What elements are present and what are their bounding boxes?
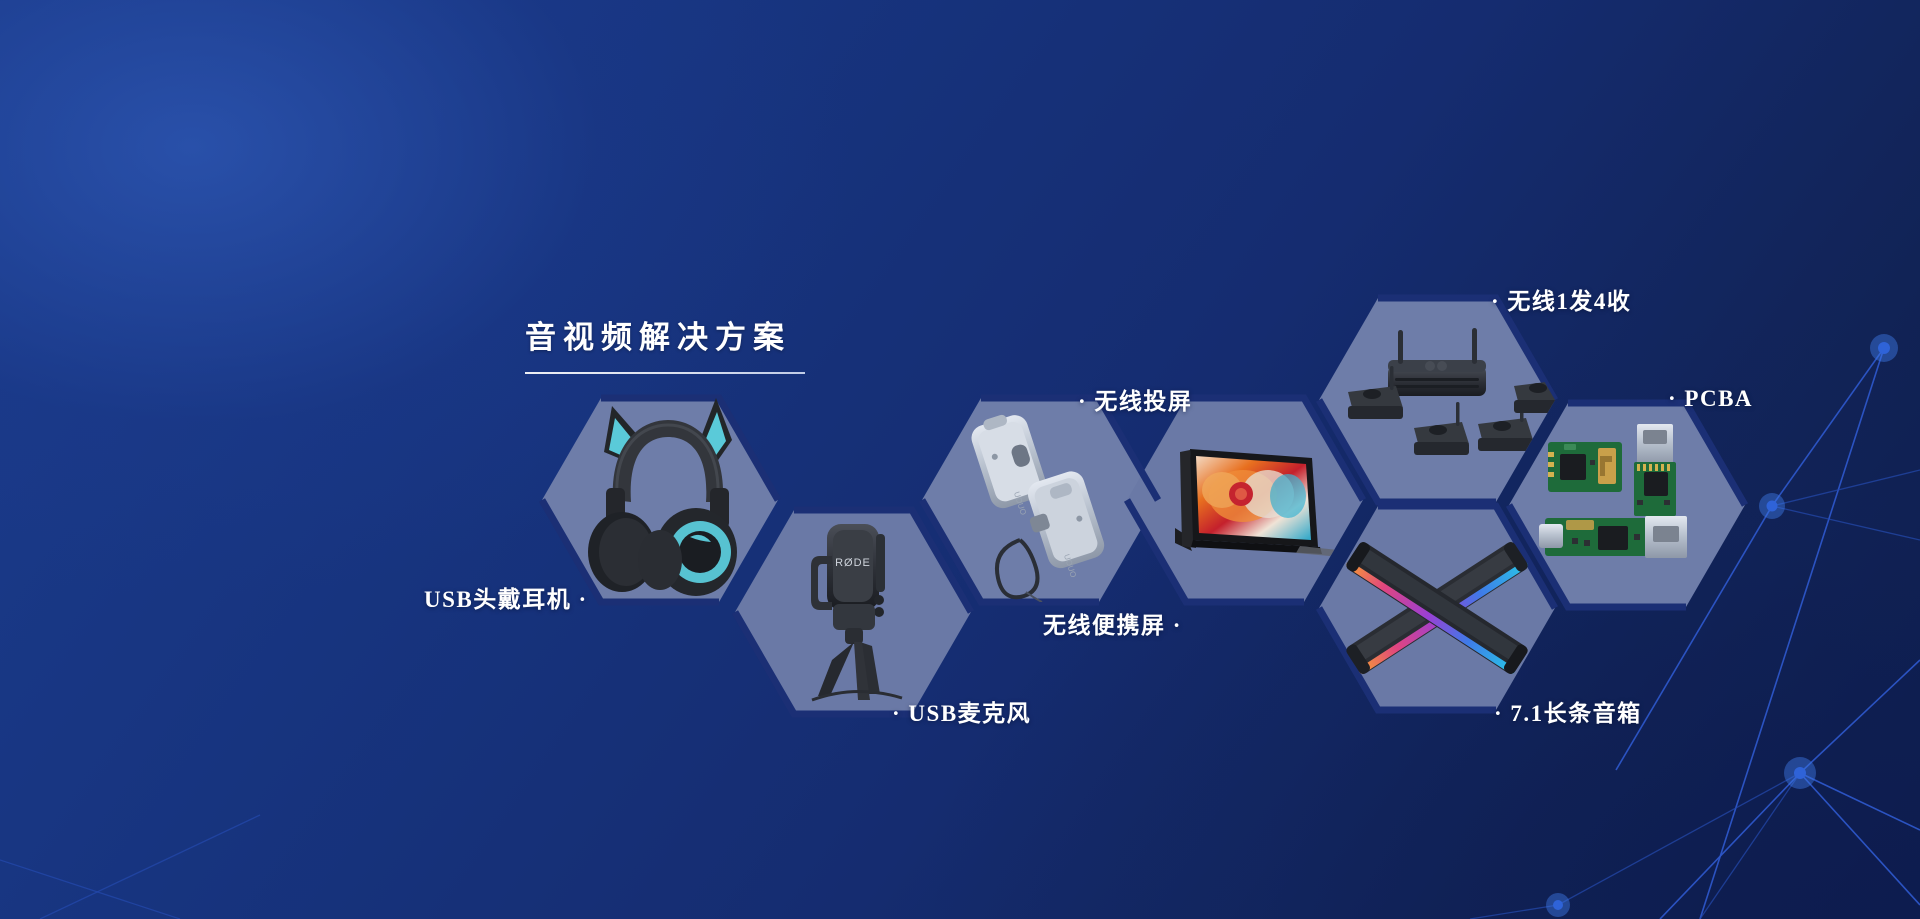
label-usb-microphone[interactable]: · USB麦克风	[892, 694, 1031, 728]
label-usb-headset[interactable]: USB头戴耳机 ·	[424, 580, 588, 614]
label-wireless-casting[interactable]: · 无线投屏	[1078, 382, 1192, 416]
label-pcba[interactable]: · PCBA	[1668, 386, 1753, 412]
label-wireless-portable[interactable]: 无线便携屏 ·	[1043, 606, 1182, 640]
title-underline	[525, 372, 805, 374]
product-pcba-modules	[1539, 424, 1687, 558]
hexagon-pcba[interactable]	[1509, 403, 1745, 607]
section-title-block: 音视频解决方案	[525, 312, 815, 374]
svg-text:RØDE: RØDE	[835, 557, 871, 569]
page-title: 音视频解决方案	[525, 312, 815, 357]
label-wireless-1to4[interactable]: · 无线1发4收	[1491, 282, 1631, 316]
hexagon-product-cluster: RØDE UOUO UOUO	[0, 0, 1920, 919]
label-soundbar-71[interactable]: · 7.1长条音箱	[1494, 694, 1642, 728]
